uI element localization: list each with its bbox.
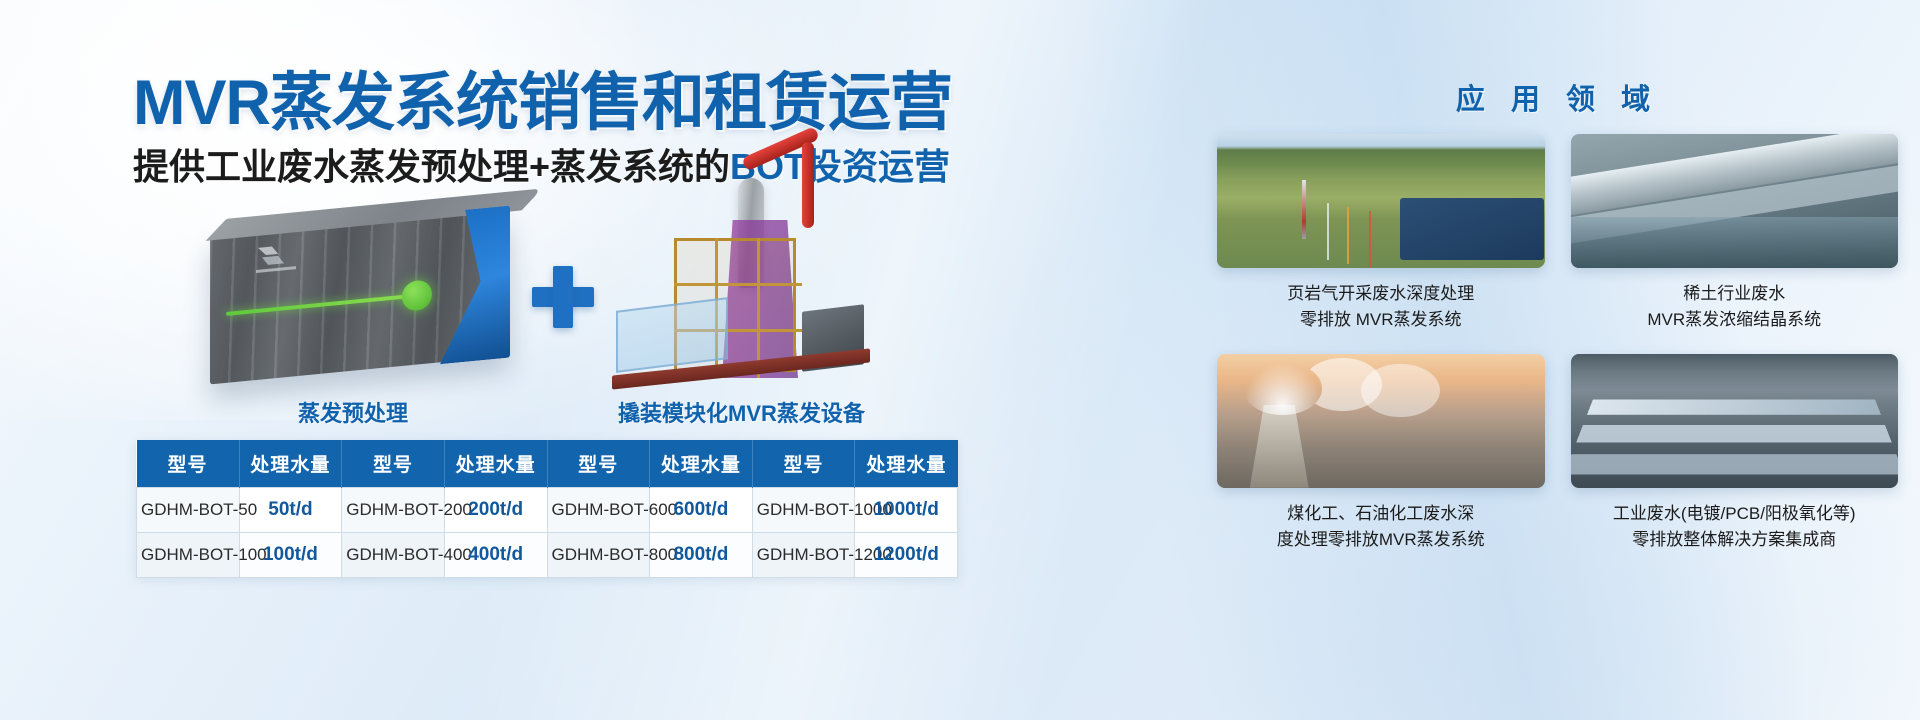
column-header: 处理水量 bbox=[650, 440, 753, 488]
caption-line: 零排放 MVR蒸发系统 bbox=[1217, 307, 1545, 333]
column-header: 型号 bbox=[547, 440, 650, 488]
column-header: 型号 bbox=[342, 440, 445, 488]
column-header: 处理水量 bbox=[444, 440, 547, 488]
application-card[interactable]: 页岩气开采废水深度处理 零排放 MVR蒸发系统 bbox=[1217, 134, 1545, 334]
caption-line: MVR蒸发浓缩结晶系统 bbox=[1571, 307, 1899, 333]
application-card[interactable]: 工业废水(电镀/PCB/阳极氧化等) 零排放整体解决方案集成商 bbox=[1571, 354, 1899, 554]
page-title: MVR蒸发系统销售和租赁运营 bbox=[133, 72, 952, 135]
skid-evaporator-icon bbox=[626, 186, 906, 398]
model-cell: GDHM-BOT-400 bbox=[342, 533, 445, 578]
caption-line: 页岩气开采废水深度处理 bbox=[1217, 281, 1545, 307]
caption-line: 零排放整体解决方案集成商 bbox=[1571, 527, 1899, 553]
application-caption: 稀土行业废水 MVR蒸发浓缩结晶系统 bbox=[1571, 281, 1899, 334]
page-subtitle: 提供工业废水蒸发预处理+蒸发系统的BOT投资运营 bbox=[133, 147, 950, 187]
column-header: 处理水量 bbox=[855, 440, 958, 488]
application-caption: 页岩气开采废水深度处理 零排放 MVR蒸发系统 bbox=[1217, 281, 1545, 334]
brand-logo-icon bbox=[252, 238, 322, 279]
table-row: GDHM-BOT-100 100t/d GDHM-BOT-400 400t/d … bbox=[137, 533, 958, 578]
application-card-grid: 页岩气开采废水深度处理 零排放 MVR蒸发系统 稀土行业废水 MVR蒸发浓缩结晶… bbox=[1195, 134, 1920, 553]
plus-icon bbox=[532, 266, 594, 328]
container-unit-icon bbox=[210, 208, 510, 385]
application-caption: 工业废水(电镀/PCB/阳极氧化等) 零排放整体解决方案集成商 bbox=[1571, 501, 1899, 554]
column-header: 型号 bbox=[752, 440, 855, 488]
subtitle-plain-text: 提供工业废水蒸发预处理+蒸发系统的 bbox=[133, 146, 730, 187]
industrial-pipeline-basin-photo bbox=[1571, 134, 1899, 268]
coal-chemical-plant-cooling-towers-photo bbox=[1217, 354, 1545, 488]
application-caption: 煤化工、石油化工废水深 度处理零排放MVR蒸发系统 bbox=[1217, 501, 1545, 554]
product-showcase: 蒸发预处理 撬装模块化MVR蒸发设备 bbox=[150, 200, 980, 430]
table-header-row: 型号 处理水量 型号 处理水量 型号 处理水量 型号 处理水量 bbox=[137, 440, 958, 488]
caption-line: 度处理零排放MVR蒸发系统 bbox=[1217, 527, 1545, 553]
applications-heading: 应 用 领 域 bbox=[1195, 76, 1920, 118]
caption-line: 稀土行业废水 bbox=[1571, 281, 1899, 307]
column-header: 型号 bbox=[137, 440, 240, 488]
model-cell: GDHM-BOT-600 bbox=[547, 488, 650, 533]
product-label-pretreatment: 蒸发预处理 bbox=[298, 396, 408, 428]
model-cell: GDHM-BOT-50 bbox=[137, 488, 240, 533]
shale-gas-drilling-site-photo bbox=[1217, 134, 1545, 268]
product-label-skid-mvr: 撬装模块化MVR蒸发设备 bbox=[618, 396, 865, 428]
applications-column: 应 用 领 域 页岩气开采废水深度处理 零排放 MVR蒸发系统 稀土行业废水 M… bbox=[1195, 0, 1920, 720]
evaporator-red-riser bbox=[802, 142, 814, 228]
column-header: 处理水量 bbox=[239, 440, 342, 488]
application-card[interactable]: 稀土行业废水 MVR蒸发浓缩结晶系统 bbox=[1571, 134, 1899, 334]
table-row: GDHM-BOT-50 50t/d GDHM-BOT-200 200t/d GD… bbox=[137, 488, 958, 533]
application-card[interactable]: 煤化工、石油化工废水深 度处理零排放MVR蒸发系统 bbox=[1217, 354, 1545, 554]
model-cell: GDHM-BOT-1200 bbox=[752, 533, 855, 578]
spec-table: 型号 处理水量 型号 处理水量 型号 处理水量 型号 处理水量 GDHM-BOT… bbox=[136, 440, 958, 578]
model-cell: GDHM-BOT-200 bbox=[342, 488, 445, 533]
banner-stage: MVR蒸发系统销售和租赁运营 提供工业废水蒸发预处理+蒸发系统的BOT投资运营 bbox=[0, 0, 1920, 720]
left-content-column: MVR蒸发系统销售和租赁运营 提供工业废水蒸发预处理+蒸发系统的BOT投资运营 bbox=[0, 0, 1195, 720]
wastewater-treatment-tanks-photo bbox=[1571, 354, 1899, 488]
caption-line: 工业废水(电镀/PCB/阳极氧化等) bbox=[1571, 501, 1899, 527]
model-cell: GDHM-BOT-1000 bbox=[752, 488, 855, 533]
caption-line: 煤化工、石油化工废水深 bbox=[1217, 501, 1545, 527]
model-cell: GDHM-BOT-800 bbox=[547, 533, 650, 578]
model-cell: GDHM-BOT-100 bbox=[137, 533, 240, 578]
